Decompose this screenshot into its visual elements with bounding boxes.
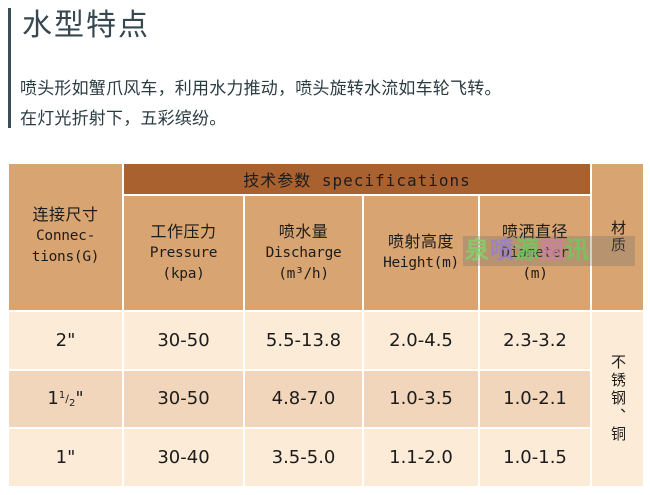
header-cell-material: 材质 — [592, 164, 643, 310]
cell-pressure: 30-40 — [124, 429, 243, 486]
cell-pressure: 30-50 — [124, 312, 243, 369]
cell-discharge: 3.5-5.0 — [245, 429, 362, 486]
cell-connection: 1" — [9, 429, 122, 486]
header-en-connections-1: Connec- — [9, 226, 122, 247]
header-cell-pressure: 工作压力 Pressure (kpa) — [124, 196, 243, 309]
header-en-pressure-1: Pressure — [124, 243, 243, 264]
header-en-discharge-2: (m³/h) — [245, 264, 362, 285]
header-en-diameter-1: Diameter — [480, 243, 590, 264]
cell-material-value: 不锈钢、铜 — [592, 312, 643, 486]
page-title: 水型特点 — [22, 6, 150, 46]
header-cell-discharge: 喷水量 Discharge (m³/h) — [245, 196, 362, 309]
cell-height: 1.0-3.5 — [364, 371, 478, 428]
table-row: 1" 30-40 3.5-5.0 1.1-2.0 1.0-1.5 — [9, 429, 643, 486]
cell-discharge: 4.8-7.0 — [245, 371, 362, 428]
header-cn-connections: 连接尺寸 — [9, 205, 122, 226]
cell-diameter: 1.0-2.1 — [480, 371, 590, 428]
header-cell-diameter: 喷洒直径 Diameter (m) — [480, 196, 590, 309]
description-line-1: 喷头形如蟹爪风车，利用水力推动，喷头旋转水流如车轮飞转。 — [20, 74, 645, 104]
cell-pressure: 30-50 — [124, 371, 243, 428]
header-en-discharge-1: Discharge — [245, 243, 362, 264]
specifications-table: 连接尺寸 Connec- tions(G) 技术参数 specification… — [7, 162, 645, 488]
table-header-merged-row: 连接尺寸 Connec- tions(G) 技术参数 specification… — [9, 164, 643, 194]
header-en-pressure-2: (kpa) — [124, 264, 243, 285]
header-specifications-bar: 技术参数 specifications — [124, 164, 590, 194]
description-line-2: 在灯光折射下，五彩缤纷。 — [20, 104, 645, 134]
cell-height: 1.1-2.0 — [364, 429, 478, 486]
header-en-diameter-2: (m) — [480, 264, 590, 285]
table-row: 2" 30-50 5.5-13.8 2.0-4.5 2.3-3.2 不锈钢、铜 — [9, 312, 643, 369]
table-row: 11/2" 30-50 4.8-7.0 1.0-3.5 1.0-2.1 — [9, 371, 643, 428]
header-en-height-1: Height(m) — [364, 253, 478, 274]
cell-diameter: 1.0-1.5 — [480, 429, 590, 486]
title-accent-bar — [8, 8, 11, 128]
cell-diameter: 2.3-3.2 — [480, 312, 590, 369]
header-cn-discharge: 喷水量 — [245, 222, 362, 243]
header-cell-height: 喷射高度 Height(m) — [364, 196, 478, 309]
cell-connection: 11/2" — [9, 371, 122, 428]
header-cn-diameter: 喷洒直径 — [480, 222, 590, 243]
cell-discharge: 5.5-13.8 — [245, 312, 362, 369]
header-en-connections-2: tions(G) — [9, 247, 122, 268]
header-cn-height: 喷射高度 — [364, 232, 478, 253]
cell-connection: 2" — [9, 312, 122, 369]
header-cell-connections: 连接尺寸 Connec- tions(G) — [9, 164, 122, 310]
intro-section: 水型特点 喷头形如蟹爪风车，利用水力推动，喷头旋转水流如车轮飞转。 在灯光折射下… — [0, 0, 650, 150]
cell-height: 2.0-4.5 — [364, 312, 478, 369]
description-text: 喷头形如蟹爪风车，利用水力推动，喷头旋转水流如车轮飞转。 在灯光折射下，五彩缤纷… — [20, 74, 645, 134]
header-cn-pressure: 工作压力 — [124, 222, 243, 243]
